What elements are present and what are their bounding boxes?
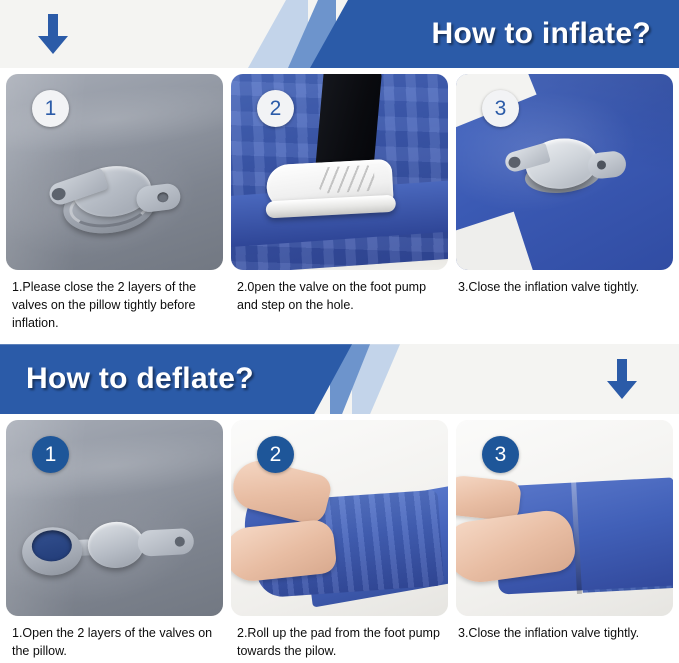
closed-valve-icon: [507, 128, 629, 206]
valve-icon: [54, 153, 178, 241]
deflate-step-2-caption: 2.Roll up the pad from the foot pump tow…: [231, 616, 448, 661]
inflate-step-2: 2 2.0pen the valve on the foot pump and …: [231, 74, 448, 332]
deflate-step-3-image: 3: [456, 420, 673, 616]
arrow-down-icon: [605, 357, 639, 401]
deflate-title: How to deflate?: [26, 362, 254, 396]
inflate-step-3: 3 3.Close the inflation valve tightly.: [456, 74, 673, 332]
inflate-header-band: How to inflate?: [0, 0, 679, 68]
deflate-step-1-image: 1: [6, 420, 223, 616]
deflate-step-3: 3 3.Close the inflation valve tightly.: [456, 420, 673, 661]
deflate-step-2-image: 2: [231, 420, 448, 616]
shoe-icon: [266, 159, 399, 224]
inflate-step-1: 1 1.Please close the 2 layers of the val…: [6, 74, 223, 332]
step-badge: 3: [482, 436, 519, 473]
deflate-step-3-caption: 3.Close the inflation valve tightly.: [456, 616, 673, 643]
step-badge: 1: [32, 90, 69, 127]
inflate-step-2-caption: 2.0pen the valve on the foot pump and st…: [231, 270, 448, 315]
inflate-step-2-image: 2: [231, 74, 448, 270]
step-badge: 1: [32, 436, 69, 473]
step-badge: 2: [257, 90, 294, 127]
deflate-header-band: How to deflate?: [0, 344, 679, 414]
deflate-step-2: 2 2.Roll up the pad from the foot pump t…: [231, 420, 448, 661]
step-badge: 3: [482, 90, 519, 127]
inflate-step-3-image: 3: [456, 74, 673, 270]
deflate-steps-row: 1 1.Open the 2 layers of the valves on t…: [0, 414, 679, 661]
inflate-step-3-caption: 3.Close the inflation valve tightly.: [456, 270, 673, 297]
arrow-down-icon: [36, 12, 70, 56]
deflate-step-1-caption: 1.Open the 2 layers of the valves on the…: [6, 616, 223, 661]
inflate-step-1-image: 1: [6, 74, 223, 270]
open-valve-icon: [21, 513, 210, 581]
inflate-title: How to inflate?: [432, 17, 651, 51]
deflate-step-1: 1 1.Open the 2 layers of the valves on t…: [6, 420, 223, 661]
inflate-steps-row: 1 1.Please close the 2 layers of the val…: [0, 68, 679, 332]
step-badge: 2: [257, 436, 294, 473]
inflate-step-1-caption: 1.Please close the 2 layers of the valve…: [6, 270, 223, 332]
inflate-deflate-infographic: How to inflate? 1 1.Please close: [0, 0, 679, 663]
